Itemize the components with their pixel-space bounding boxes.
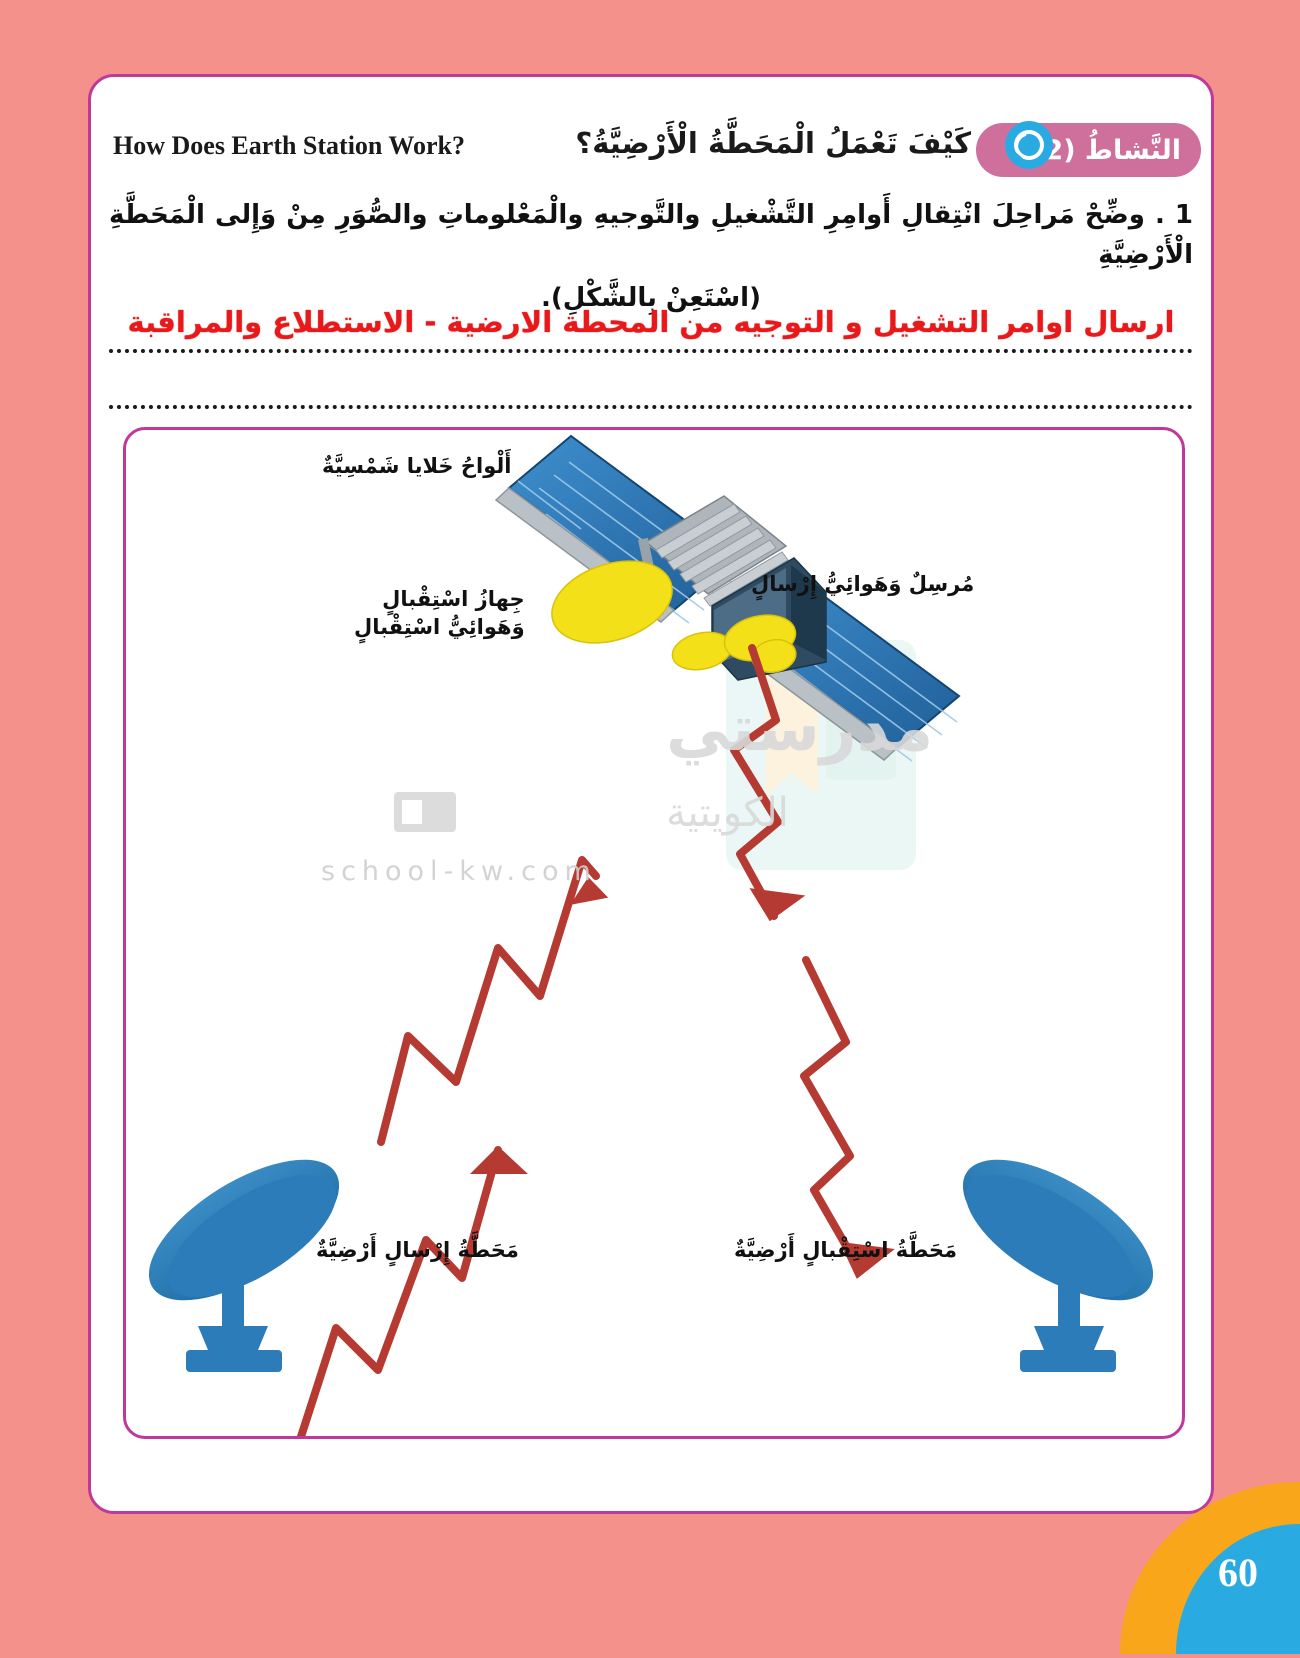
answer-area[interactable]: ارسال اوامر التشغيل و التوجيه من المحطة … — [109, 299, 1193, 399]
page-number: 60 — [1218, 1549, 1258, 1596]
satellite-diagram: مدرستي الكويتية school-kw.com — [126, 430, 1182, 1436]
page-card: النَّشاطُ (2) كَيْفَ تَعْمَلُ الْمَحَطَّ… — [88, 74, 1214, 1514]
figure-label-station-receive: مَحَطَّةُ اسْتِقْبالٍ أَرْضِيَّةٌ — [734, 1236, 957, 1264]
page-title-english: How Does Earth Station Work? — [113, 131, 465, 161]
svg-text:الكويتية: الكويتية — [666, 790, 789, 836]
ground-station-receive — [941, 1132, 1175, 1372]
figure-label-receiver-line1: جِهازُ اسْتِقْبالٍ — [354, 585, 525, 613]
answer-blank-line-2[interactable] — [109, 405, 1193, 409]
figure-label-transmitter: مُرسِلٌ وَهَوائِيُّ إِرْسالٍ — [751, 570, 974, 598]
uplink-arrow-head-2 — [470, 1146, 528, 1174]
svg-text:school-kw.com: school-kw.com — [321, 856, 597, 887]
page-title-arabic: كَيْفَ تَعْمَلُ الْمَحَطَّةُ الْأَرْضِيَ… — [575, 125, 971, 161]
handwritten-answer: ارسال اوامر التشغيل و التوجيه من المحطة … — [109, 305, 1193, 339]
svg-text:مدرستي: مدرستي — [666, 692, 933, 766]
figure-label-solar-panels: أَلْواحُ خَلايا شَمْسِيَّةٌ — [322, 452, 511, 480]
figure-box: مدرستي الكويتية school-kw.com أَلْواحُ خ… — [123, 427, 1185, 1439]
page-corner: 60 — [970, 1464, 1300, 1654]
figure-label-station-transmit: مَحَطَّةُ إِرْسالٍ أَرْضِيَّةٌ — [316, 1236, 519, 1264]
downlink-arrow-2 — [804, 960, 860, 1270]
question-line-1: 1 . وضِّحْ مَراحِلَ انْتِقالِ أَوامِرِ ا… — [109, 195, 1193, 276]
magnifier-icon — [999, 119, 1061, 181]
activity-header: النَّشاطُ (2) كَيْفَ تَعْمَلُ الْمَحَطَّ… — [91, 123, 1211, 185]
figure-label-receiver: جِهازُ اسْتِقْبالٍ وَهَوائِيُّ اسْتِقْبا… — [354, 585, 525, 642]
uplink-arrow — [381, 860, 596, 1142]
answer-blank-line-1[interactable] — [109, 349, 1193, 353]
figure-label-receiver-line2: وَهَوائِيُّ اسْتِقْبالٍ — [354, 613, 525, 641]
downlink-arrow-head — [741, 873, 806, 930]
